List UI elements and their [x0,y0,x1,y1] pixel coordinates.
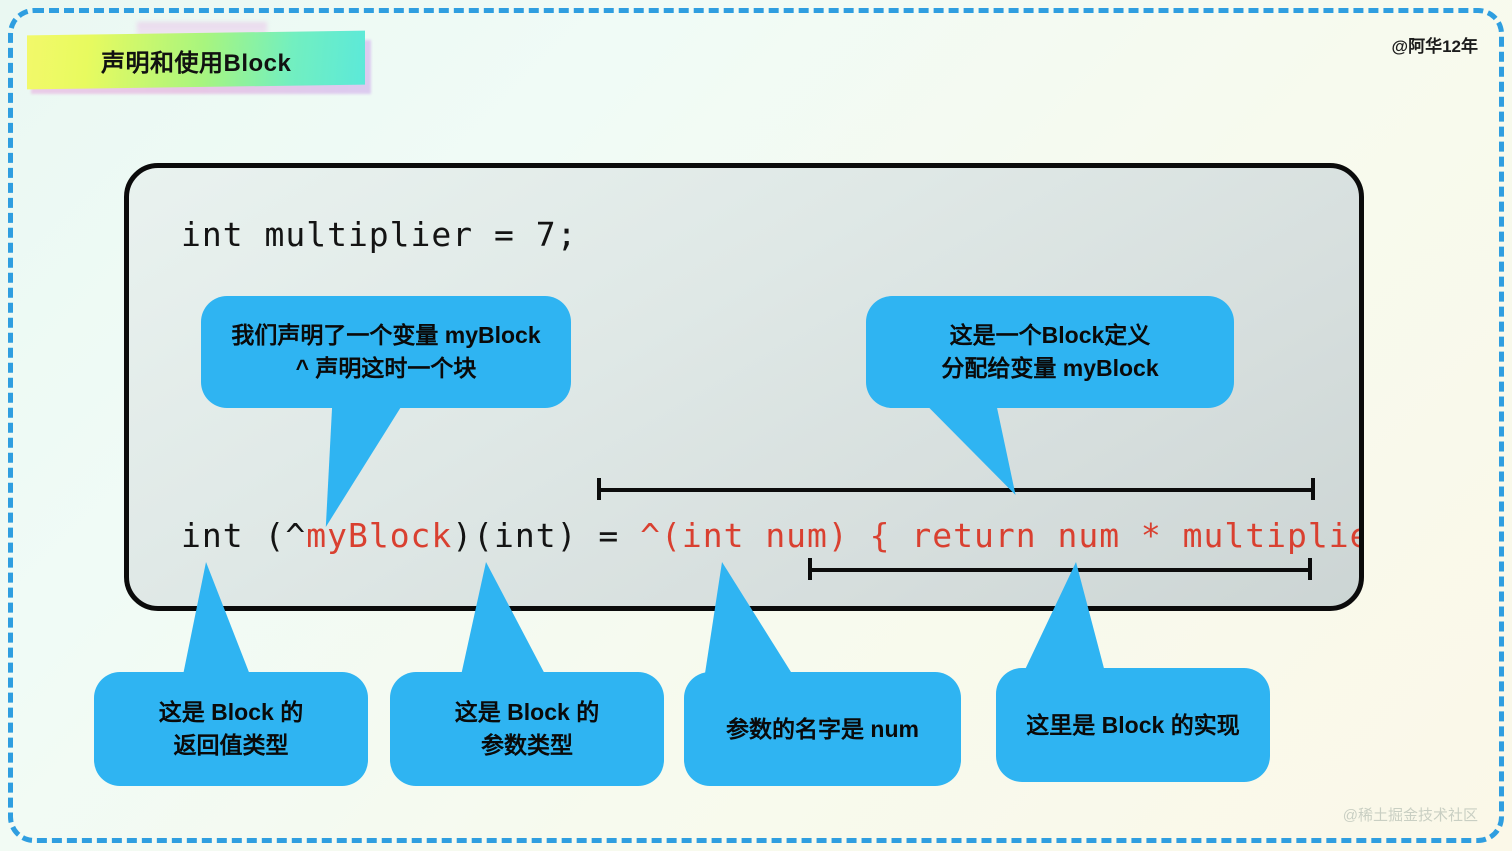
measure-bar-cap-left [597,478,601,500]
code-line-declaration-multiplier: int multiplier = 7; [181,215,578,254]
page-title: 声明和使用Block [101,43,291,78]
callout-paramname-line-1: 参数的名字是 num [726,713,919,746]
callout-declare-line-1: 我们声明了一个变量 myBlock [231,319,540,352]
title-banner: 声明和使用Block [27,33,367,89]
title-banner-gradient: 声明和使用Block [27,31,365,90]
callout-param-type: 这是 Block 的 参数类型 [390,672,664,786]
slide-canvas: 声明和使用Block @阿华12年 @稀土掘金技术社区 int multipli… [0,0,1512,851]
measure-bar-cap-right [1311,478,1315,500]
code-segment-black-1: int (^ [181,516,306,555]
callout-paramtype-line-1: 这是 Block 的 [455,696,599,729]
callout-impl-line-1: 这里是 Block 的实现 [1026,709,1239,742]
callout-tail-return-type [182,562,252,680]
measure-bar-cap-right [1308,558,1312,580]
code-segment-black-2: )(int) = [452,516,640,555]
callout-blockdef-line-1: 这是一个Block定义 [950,319,1151,352]
watermark-author: @阿华12年 [1392,32,1479,57]
callout-declare-line-2: ^ 声明这时一个块 [296,352,477,385]
callout-return-type: 这是 Block 的 返回值类型 [94,672,368,786]
callout-paramtype-line-2: 参数类型 [481,729,573,762]
callout-declare-variable: 我们声明了一个变量 myBlock ^ 声明这时一个块 [201,296,571,408]
callout-tail-param-type [460,562,548,680]
callout-tail-declare [326,405,402,527]
callout-blockdef-line-2: 分配给变量 myBlock [941,352,1158,385]
measure-bar-cap-left [808,558,812,580]
code-segment-block-literal: ^(int num) { return num * multiplier;} [640,516,1364,555]
callout-returntype-line-2: 返回值类型 [174,729,289,762]
callout-implementation: 这里是 Block 的实现 [996,668,1270,782]
callout-block-definition: 这是一个Block定义 分配给变量 myBlock [866,296,1234,408]
watermark-site: @稀土掘金技术社区 [1343,804,1478,825]
callout-tail-implementation [1022,562,1106,676]
callout-tail-param-name [704,562,796,680]
callout-returntype-line-1: 这是 Block 的 [159,696,303,729]
callout-param-name: 参数的名字是 num [684,672,961,786]
